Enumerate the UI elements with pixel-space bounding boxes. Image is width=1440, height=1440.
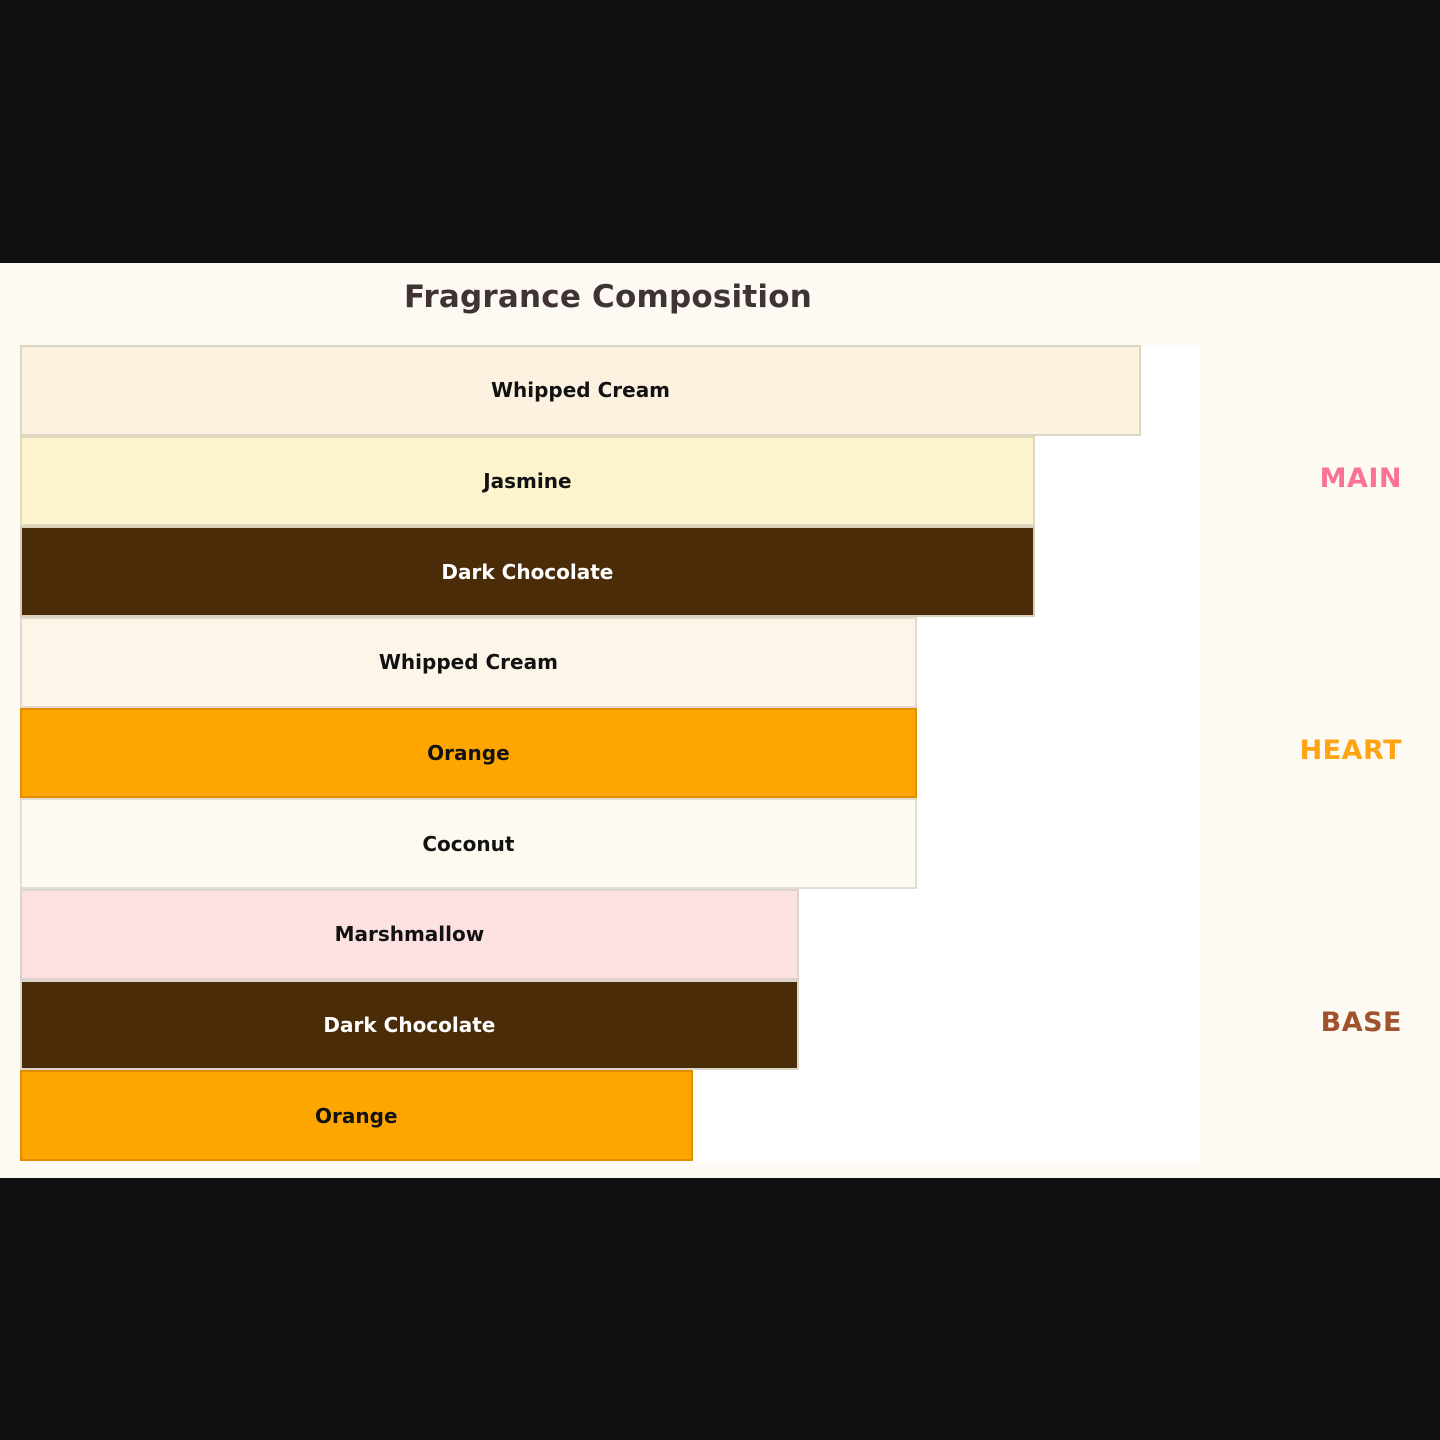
bar-label: Whipped Cream — [373, 650, 564, 674]
bar-row: Orange — [20, 1070, 1200, 1161]
bar-label: Jasmine — [477, 469, 577, 493]
bar-row: Marshmallow — [20, 889, 1200, 980]
bar-row: Whipped Cream — [20, 345, 1200, 436]
chart-figure: Fragrance Composition Whipped CreamJasmi… — [0, 263, 1440, 1178]
bar-main-dark-chocolate[interactable]: Dark Chocolate — [20, 526, 1035, 617]
bar-heart-coconut[interactable]: Coconut — [20, 798, 917, 889]
bar-label: Dark Chocolate — [435, 560, 619, 584]
bar-label: Dark Chocolate — [317, 1013, 501, 1037]
bar-label: Orange — [309, 1104, 403, 1128]
bar-row: Whipped Cream — [20, 617, 1200, 708]
bar-row: Dark Chocolate — [20, 526, 1200, 617]
bar-heart-orange[interactable]: Orange — [20, 708, 917, 799]
bar-base-orange[interactable]: Orange — [20, 1070, 693, 1161]
bar-main-jasmine[interactable]: Jasmine — [20, 436, 1035, 527]
bar-label: Marshmallow — [329, 922, 491, 946]
section-label-main: MAIN — [1202, 463, 1402, 494]
section-label-base: BASE — [1202, 1007, 1402, 1038]
page-title: Fragrance Composition — [0, 279, 1216, 315]
bar-base-marshmallow[interactable]: Marshmallow — [20, 889, 799, 980]
bar-row: Jasmine — [20, 436, 1200, 527]
bar-label: Whipped Cream — [485, 378, 676, 402]
bar-label: Orange — [421, 741, 515, 765]
bar-base-dark-chocolate[interactable]: Dark Chocolate — [20, 980, 799, 1071]
bar-main-whipped-cream[interactable]: Whipped Cream — [20, 345, 1141, 436]
bar-row: Orange — [20, 708, 1200, 799]
bar-heart-whipped-cream[interactable]: Whipped Cream — [20, 617, 917, 708]
bar-row: Dark Chocolate — [20, 980, 1200, 1071]
bar-label: Coconut — [416, 832, 520, 856]
screenshot-root: Fragrance Composition Whipped CreamJasmi… — [0, 0, 1440, 1440]
bar-row: Coconut — [20, 798, 1200, 889]
section-label-heart: HEART — [1202, 735, 1402, 766]
plot-area: Whipped CreamJasmineDark ChocolateWhippe… — [20, 345, 1200, 1161]
